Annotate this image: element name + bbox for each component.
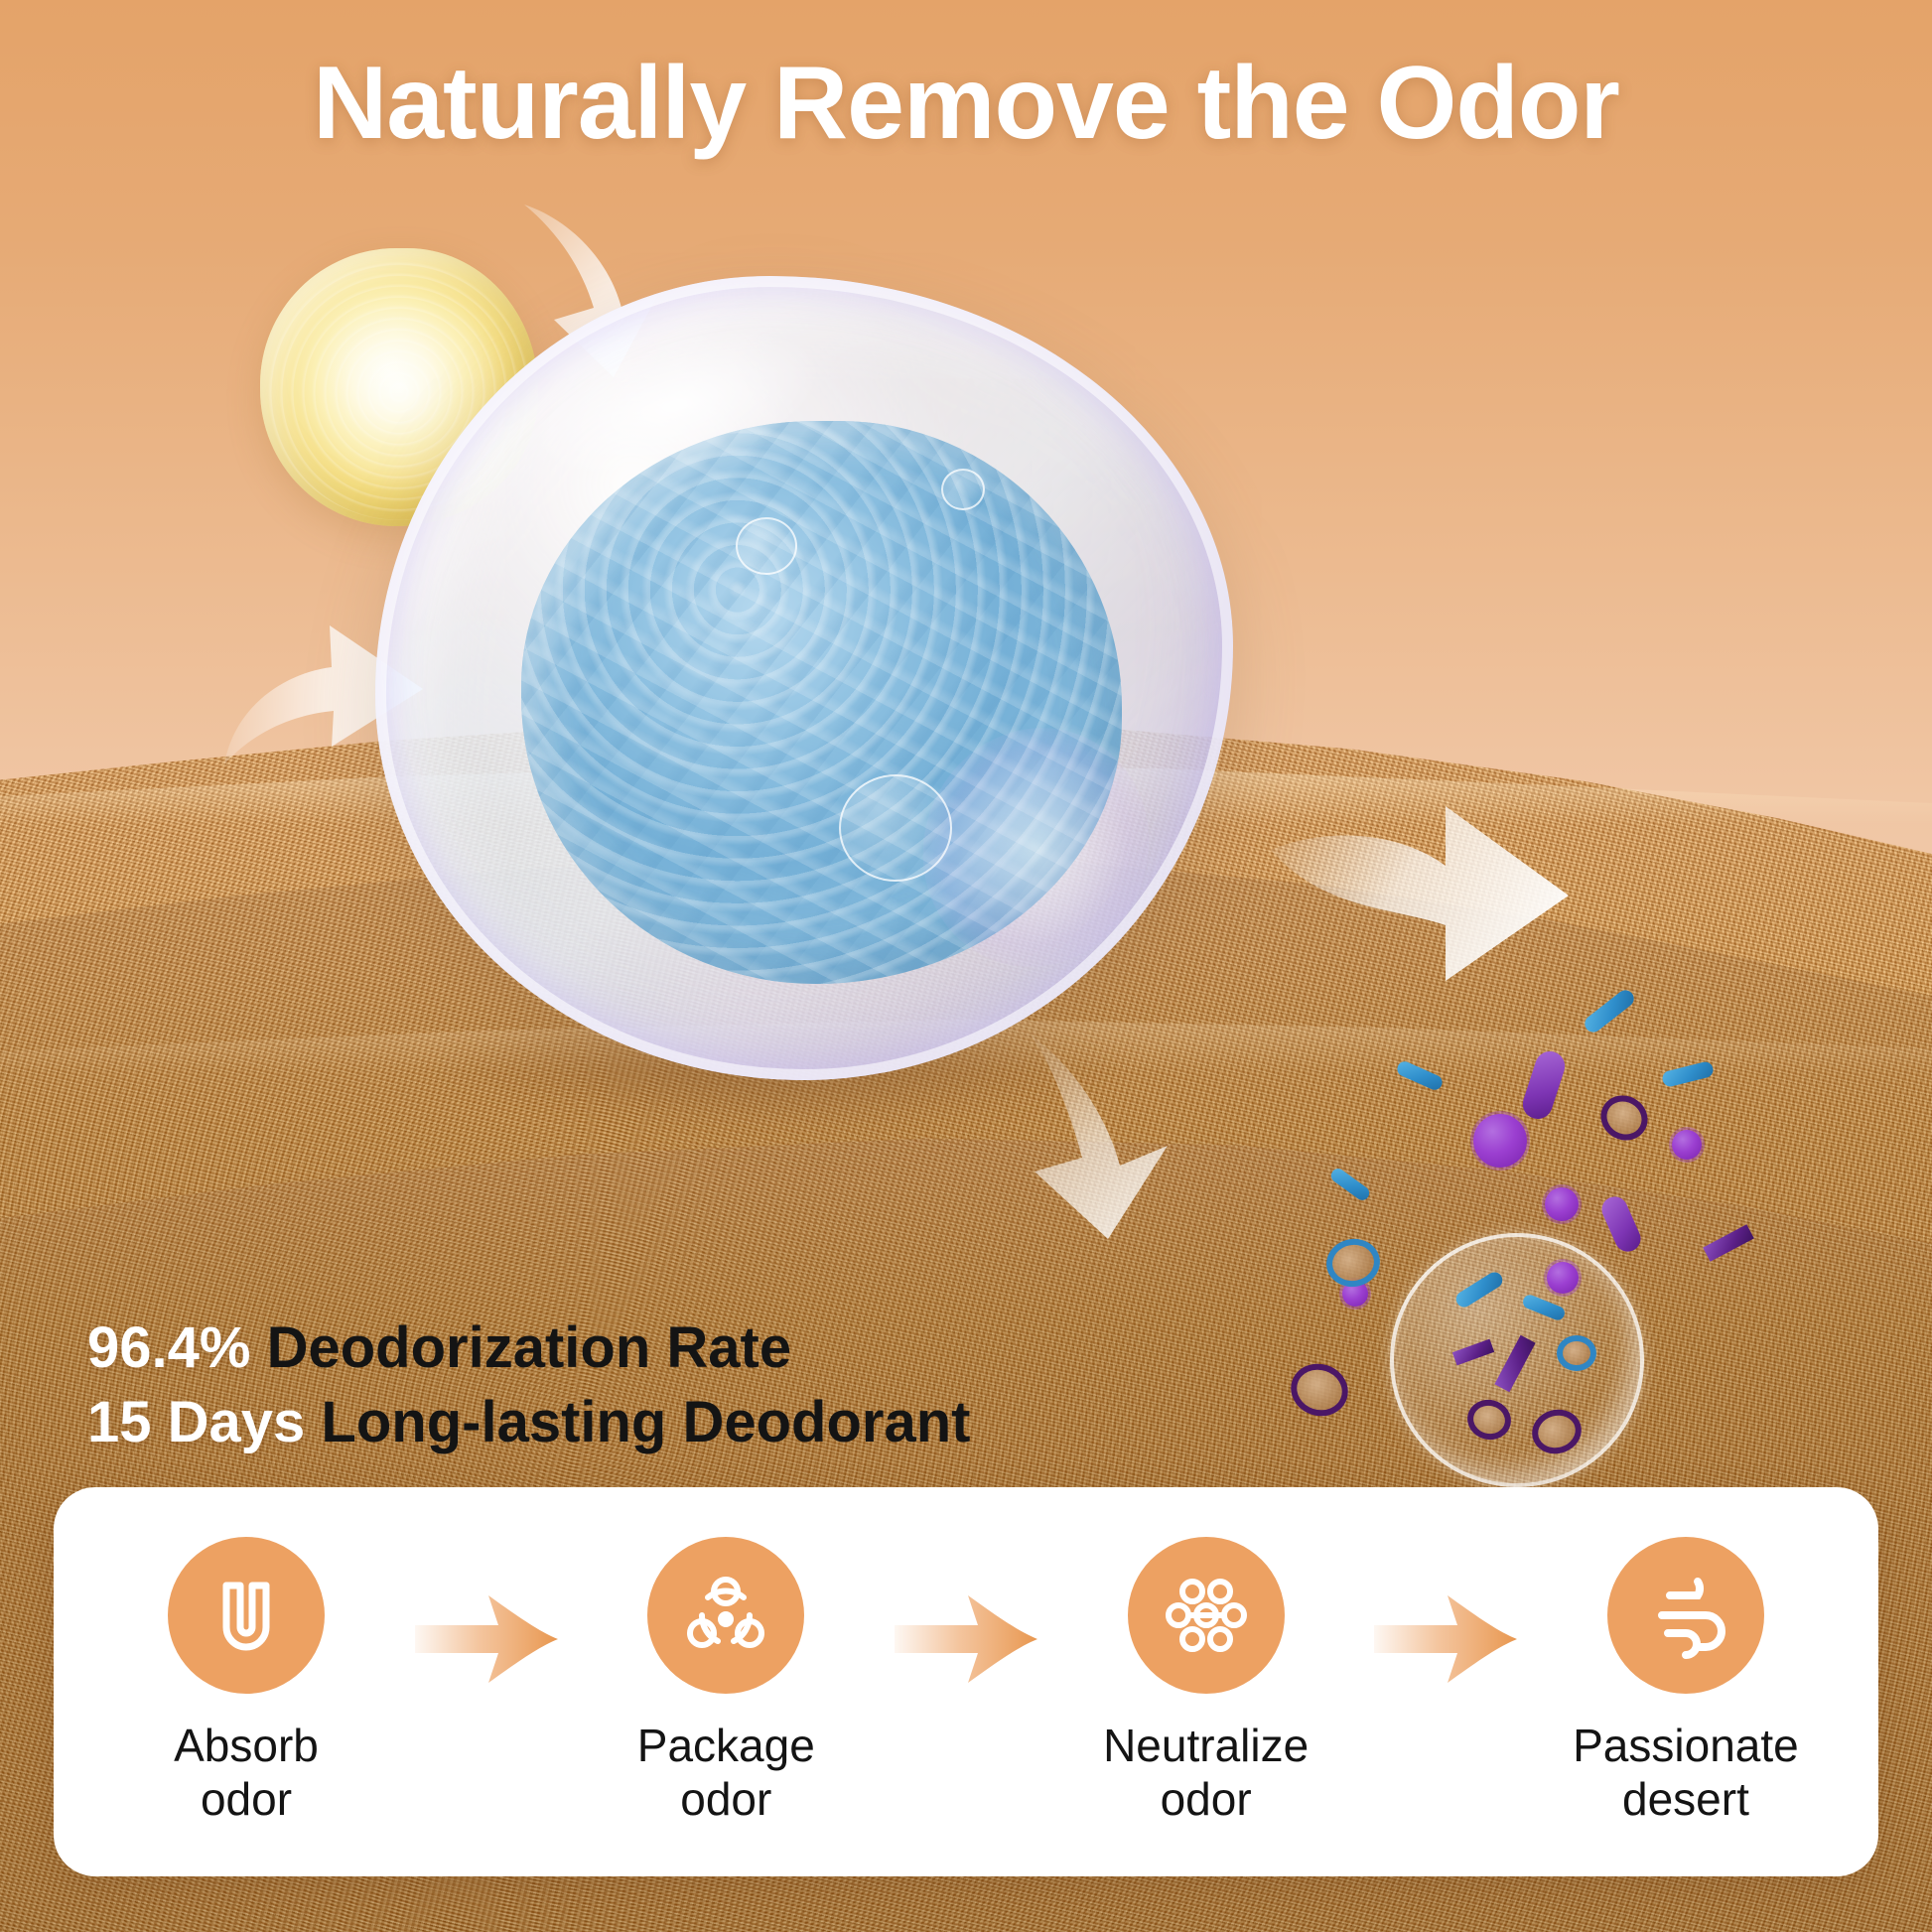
microbe-ring <box>1557 1335 1596 1371</box>
step-icon-badge <box>1607 1537 1764 1694</box>
gel-sphere <box>375 276 1233 1080</box>
microbe-rod <box>1521 1294 1567 1322</box>
molecule-grid-icon <box>1161 1570 1252 1661</box>
microbe-virus <box>1545 1187 1579 1221</box>
step-label: Passionate desert <box>1573 1720 1799 1827</box>
microbe-virus <box>1473 1114 1527 1168</box>
microbe-ring <box>1527 1404 1587 1459</box>
step-arrow-1-icon <box>413 1591 560 1687</box>
process-steps-panel: Absorb odor <box>54 1487 1878 1876</box>
step-arrow-2-icon <box>893 1591 1039 1687</box>
microbe-virus <box>1672 1130 1702 1160</box>
wind-icon <box>1640 1570 1731 1661</box>
step-label: Package odor <box>637 1720 815 1827</box>
microbe-rod <box>1452 1269 1505 1310</box>
stat-line: 15 Days Long-lasting Deodorant <box>87 1385 970 1459</box>
microbe-rod <box>1495 1335 1536 1392</box>
arrow-down-sand-icon <box>1013 1025 1231 1253</box>
magnet-icon <box>201 1570 292 1661</box>
step-label: Absorb odor <box>174 1720 319 1827</box>
stat-text: Deodorization Rate <box>267 1315 792 1380</box>
step-icon-badge <box>647 1537 804 1694</box>
step-icon-badge <box>168 1537 325 1694</box>
molecule-triangle-icon <box>680 1570 771 1661</box>
step-icon-badge <box>1128 1537 1285 1694</box>
step-arrow-3-icon <box>1372 1591 1519 1687</box>
step-package-odor[interactable]: Package odor <box>577 1537 875 1827</box>
stats-block: 96.4% Deodorization Rate 15 Days Long-la… <box>87 1311 970 1460</box>
bacteria-trapped-bubble <box>1390 1233 1644 1487</box>
microbe-rod <box>1451 1339 1493 1366</box>
step-passionate-desert[interactable]: Passionate desert <box>1537 1537 1835 1827</box>
page-title: Naturally Remove the Odor <box>0 46 1932 161</box>
stat-line: 96.4% Deodorization Rate <box>87 1311 970 1385</box>
stat-text: Long-lasting Deodorant <box>321 1390 970 1454</box>
microbe-virus <box>1547 1262 1579 1294</box>
step-neutralize-odor[interactable]: Neutralize odor <box>1057 1537 1355 1827</box>
product-infographic: Naturally Remove the Odor <box>0 0 1932 1932</box>
stat-highlight: 15 Days <box>87 1390 305 1454</box>
arrow-gel-to-sand-icon <box>1261 784 1588 1013</box>
step-absorb-odor[interactable]: Absorb odor <box>97 1537 395 1827</box>
stat-highlight: 96.4% <box>87 1315 250 1380</box>
microbe-ring <box>1463 1395 1515 1444</box>
step-label: Neutralize odor <box>1103 1720 1309 1827</box>
